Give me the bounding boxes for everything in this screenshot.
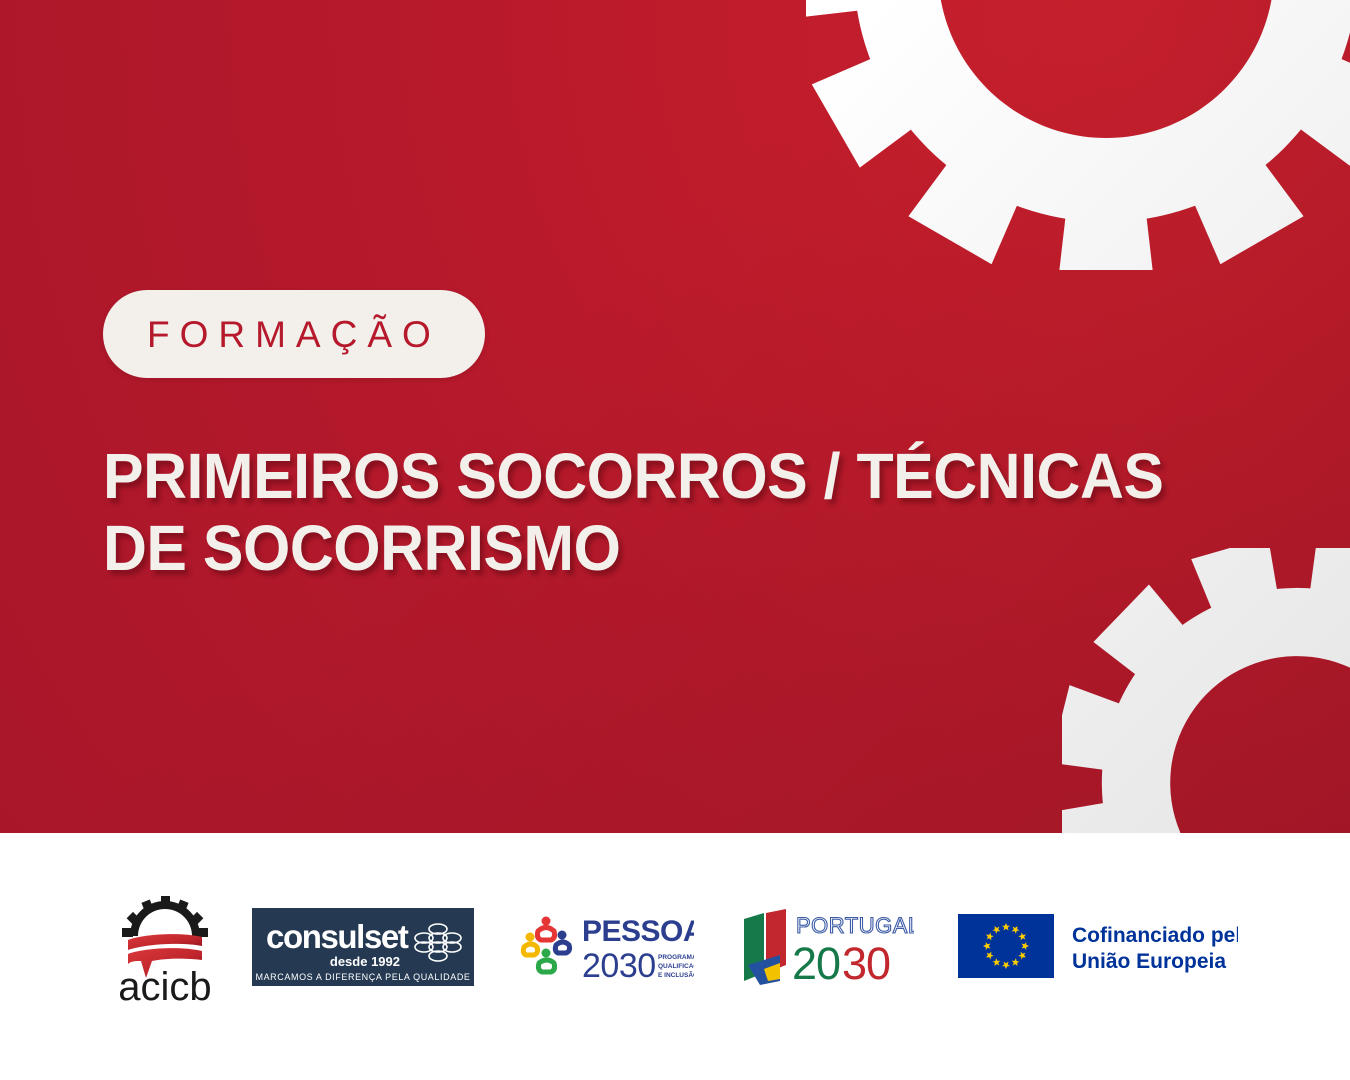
consulset-tagline: MARCAMOS A DIFERENÇA PELA QUALIDADE	[255, 972, 470, 982]
portugal-wordmark: PORTUGAL	[796, 913, 914, 938]
eu-text-line-1: Cofinanciado pela	[1072, 924, 1238, 947]
footer-logo-bar: acicb consulset	[0, 833, 1350, 1080]
consulset-logo: consulset desde 1992 MARCAMOS A DIFERENÇ…	[252, 908, 474, 986]
pessoas-people-icon	[523, 917, 569, 973]
pessoas-tagline-line-3: E INCLUSÃO	[658, 970, 694, 979]
eu-text-line-2: União Europeia	[1072, 950, 1226, 973]
acicb-gear-mark	[122, 896, 208, 937]
page-title: PRIMEIROS SOCORROS / TÉCNICAS DE SOCORRI…	[103, 441, 1234, 584]
pessoas-tagline-line-1: PROGRAMA DE DEMOGRAFIA,	[658, 954, 694, 961]
pessoas-year: 2030	[582, 947, 656, 985]
logo-strip: acicb consulset	[100, 888, 1238, 1006]
european-union-cofinancing-logo: Cofinanciado pela União Europeia	[958, 914, 1238, 980]
acicb-wordmark: acicb	[118, 965, 211, 1006]
portugal-2030-logo: PORTUGAL 20 30	[734, 907, 914, 987]
formacao-badge-label: FORMAÇÃO	[147, 316, 441, 353]
formacao-badge: FORMAÇÃO	[103, 290, 485, 378]
pessoas-2030-logo: PESSOAS 2030 PROGRAMA DE DEMOGRAFIA, QUA…	[512, 909, 694, 985]
portugal-year-second: 30	[842, 938, 890, 987]
portugal-year-first: 20	[792, 938, 840, 987]
consulset-since: desde 1992	[330, 954, 400, 969]
portugal-flag-mark	[744, 909, 786, 985]
training-course-poster: FORMAÇÃO PRIMEIROS SOCORROS / TÉCNICAS D…	[0, 0, 1350, 1080]
pessoas-wordmark: PESSOAS	[582, 915, 694, 948]
consulset-wordmark: consulset	[266, 918, 409, 955]
hero-shading-overlay	[0, 0, 1350, 833]
acicb-logo: acicb	[100, 888, 230, 1006]
gear-bottom-right-icon	[1062, 548, 1350, 833]
gear-top-right-icon	[806, 0, 1350, 270]
hero-panel: FORMAÇÃO PRIMEIROS SOCORROS / TÉCNICAS D…	[0, 0, 1350, 833]
pessoas-tagline-line-2: QUALIFICAÇÕES	[658, 961, 694, 970]
